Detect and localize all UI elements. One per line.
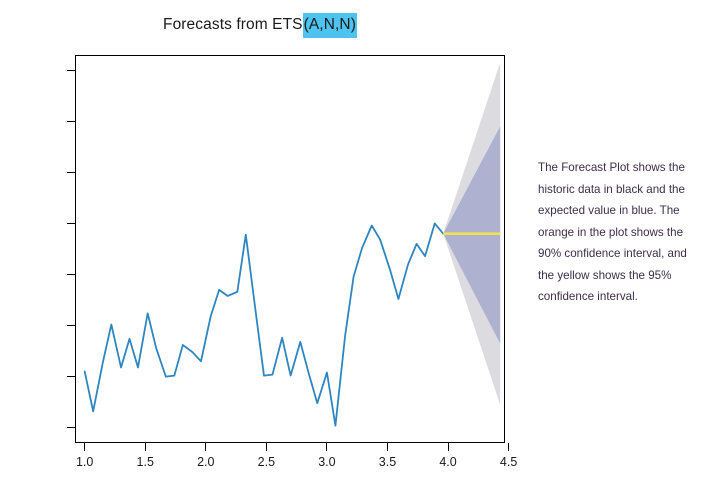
x-tick-mark: [508, 443, 509, 451]
forecast-cone: [76, 56, 504, 442]
annotation-text: The Forecast Plot shows the historic dat…: [538, 157, 698, 308]
y-tick-mark: [67, 223, 75, 224]
x-tick-label: 4.0: [428, 455, 468, 469]
x-tick-mark: [84, 443, 85, 451]
x-tick-mark: [205, 443, 206, 451]
x-tick-mark: [387, 443, 388, 451]
y-tick-mark: [67, 376, 75, 377]
y-tick-mark: [67, 427, 75, 428]
y-tick-mark: [67, 172, 75, 173]
x-tick-label: 1.5: [125, 455, 165, 469]
chart-title-prefix: Forecasts from ETS: [163, 16, 303, 33]
forecast-plot-figure: Forecasts from ETS(A,N,N) -1000100200300…: [0, 0, 520, 499]
y-tick-mark: [67, 274, 75, 275]
x-tick-mark: [266, 443, 267, 451]
historic-data-line: [85, 223, 444, 425]
x-tick-label: 1.0: [65, 455, 105, 469]
x-tick-label: 4.5: [489, 455, 529, 469]
x-tick-label: 3.5: [368, 455, 408, 469]
x-tick-label: 2.5: [246, 455, 286, 469]
chart-title: Forecasts from ETS(A,N,N): [0, 16, 520, 34]
y-tick-mark: [67, 325, 75, 326]
x-tick-mark: [326, 443, 327, 451]
x-tick-mark: [448, 443, 449, 451]
chart-title-highlight: (A,N,N): [303, 13, 357, 38]
plot-area: [75, 55, 505, 443]
x-tick-label: 3.0: [307, 455, 347, 469]
y-tick-mark: [67, 70, 75, 71]
x-tick-mark: [145, 443, 146, 451]
x-tick-label: 2.0: [186, 455, 226, 469]
y-tick-mark: [67, 121, 75, 122]
